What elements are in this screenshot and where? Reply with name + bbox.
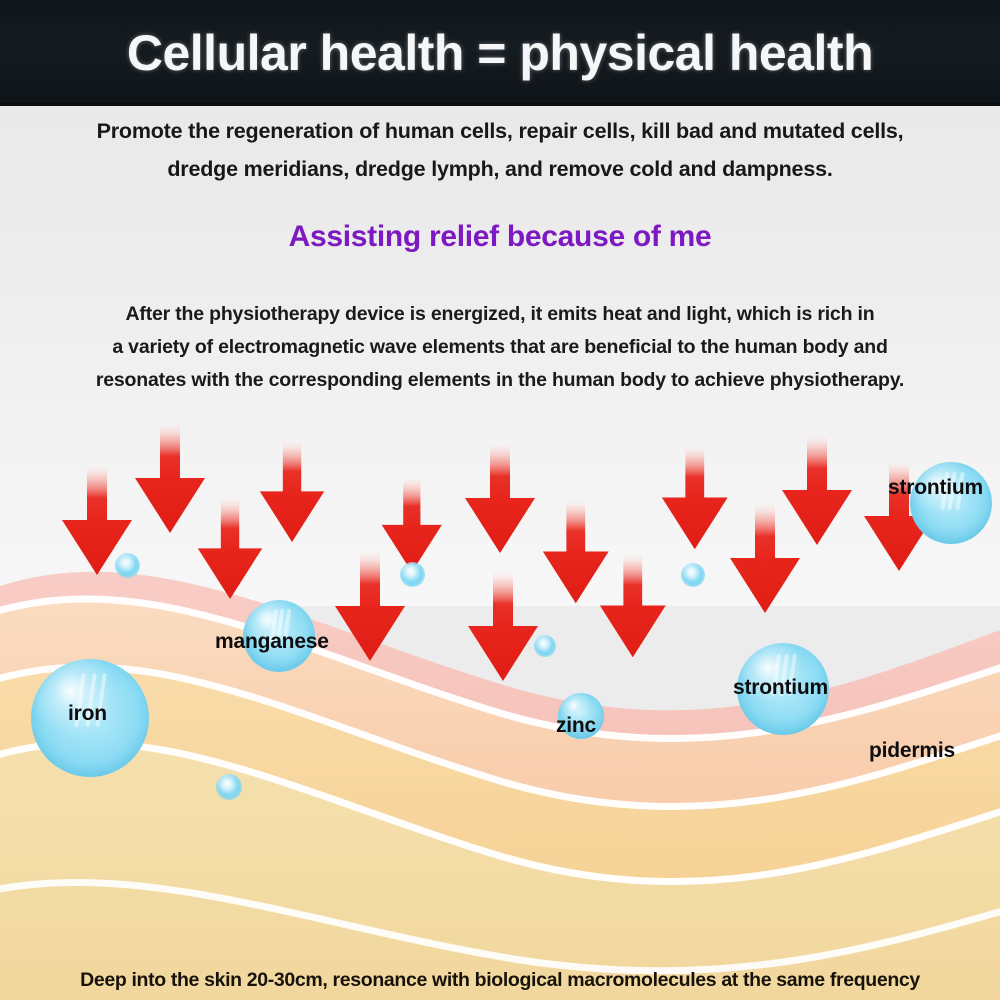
down-arrow-icon xyxy=(380,475,444,575)
header-banner: Cellular health = physical health xyxy=(0,0,1000,106)
intro-paragraph: Promote the regeneration of human cells,… xyxy=(0,112,1000,188)
down-arrow-icon xyxy=(780,432,854,548)
label-epidermis: pidermis xyxy=(869,739,955,763)
bubble-strontium-top xyxy=(910,462,992,544)
page-title: Cellular health = physical health xyxy=(0,0,1000,106)
down-arrow-icon xyxy=(660,443,730,552)
bubble-small-zinc-upper xyxy=(534,635,556,657)
bubble-small-mid xyxy=(400,562,425,587)
label-manganese: manganese xyxy=(215,630,329,654)
label-zinc: zinc xyxy=(556,714,596,738)
bubble-small-right xyxy=(681,563,705,587)
subheading: Assisting relief because of me xyxy=(0,220,1000,254)
intro-line-2: dredge meridians, dredge lymph, and remo… xyxy=(0,150,1000,188)
bottom-caption: Deep into the skin 20-30cm, resonance wi… xyxy=(0,969,1000,992)
intro-line-1: Promote the regeneration of human cells,… xyxy=(0,112,1000,150)
infographic-poster: Cellular health = physical health Promot… xyxy=(0,0,1000,1000)
body-line-2: a variety of electromagnetic wave elemen… xyxy=(0,331,1000,364)
down-arrow-icon xyxy=(463,440,537,556)
body-line-1: After the physiotherapy device is energi… xyxy=(0,298,1000,331)
body-paragraph: After the physiotherapy device is energi… xyxy=(0,298,1000,397)
bubble-small-left xyxy=(115,553,140,578)
label-strontium-top: strontium xyxy=(888,476,983,500)
down-arrow-icon xyxy=(466,568,540,684)
down-arrow-icon xyxy=(196,495,264,602)
bubble-small-derm xyxy=(216,774,242,800)
label-iron: iron xyxy=(68,702,107,726)
bubble-highlight xyxy=(910,462,992,544)
down-arrow-icon xyxy=(598,551,668,660)
down-arrow-icon xyxy=(258,438,326,545)
body-line-3: resonates with the corresponding element… xyxy=(0,364,1000,397)
label-strontium-lower: strontium xyxy=(733,676,828,700)
